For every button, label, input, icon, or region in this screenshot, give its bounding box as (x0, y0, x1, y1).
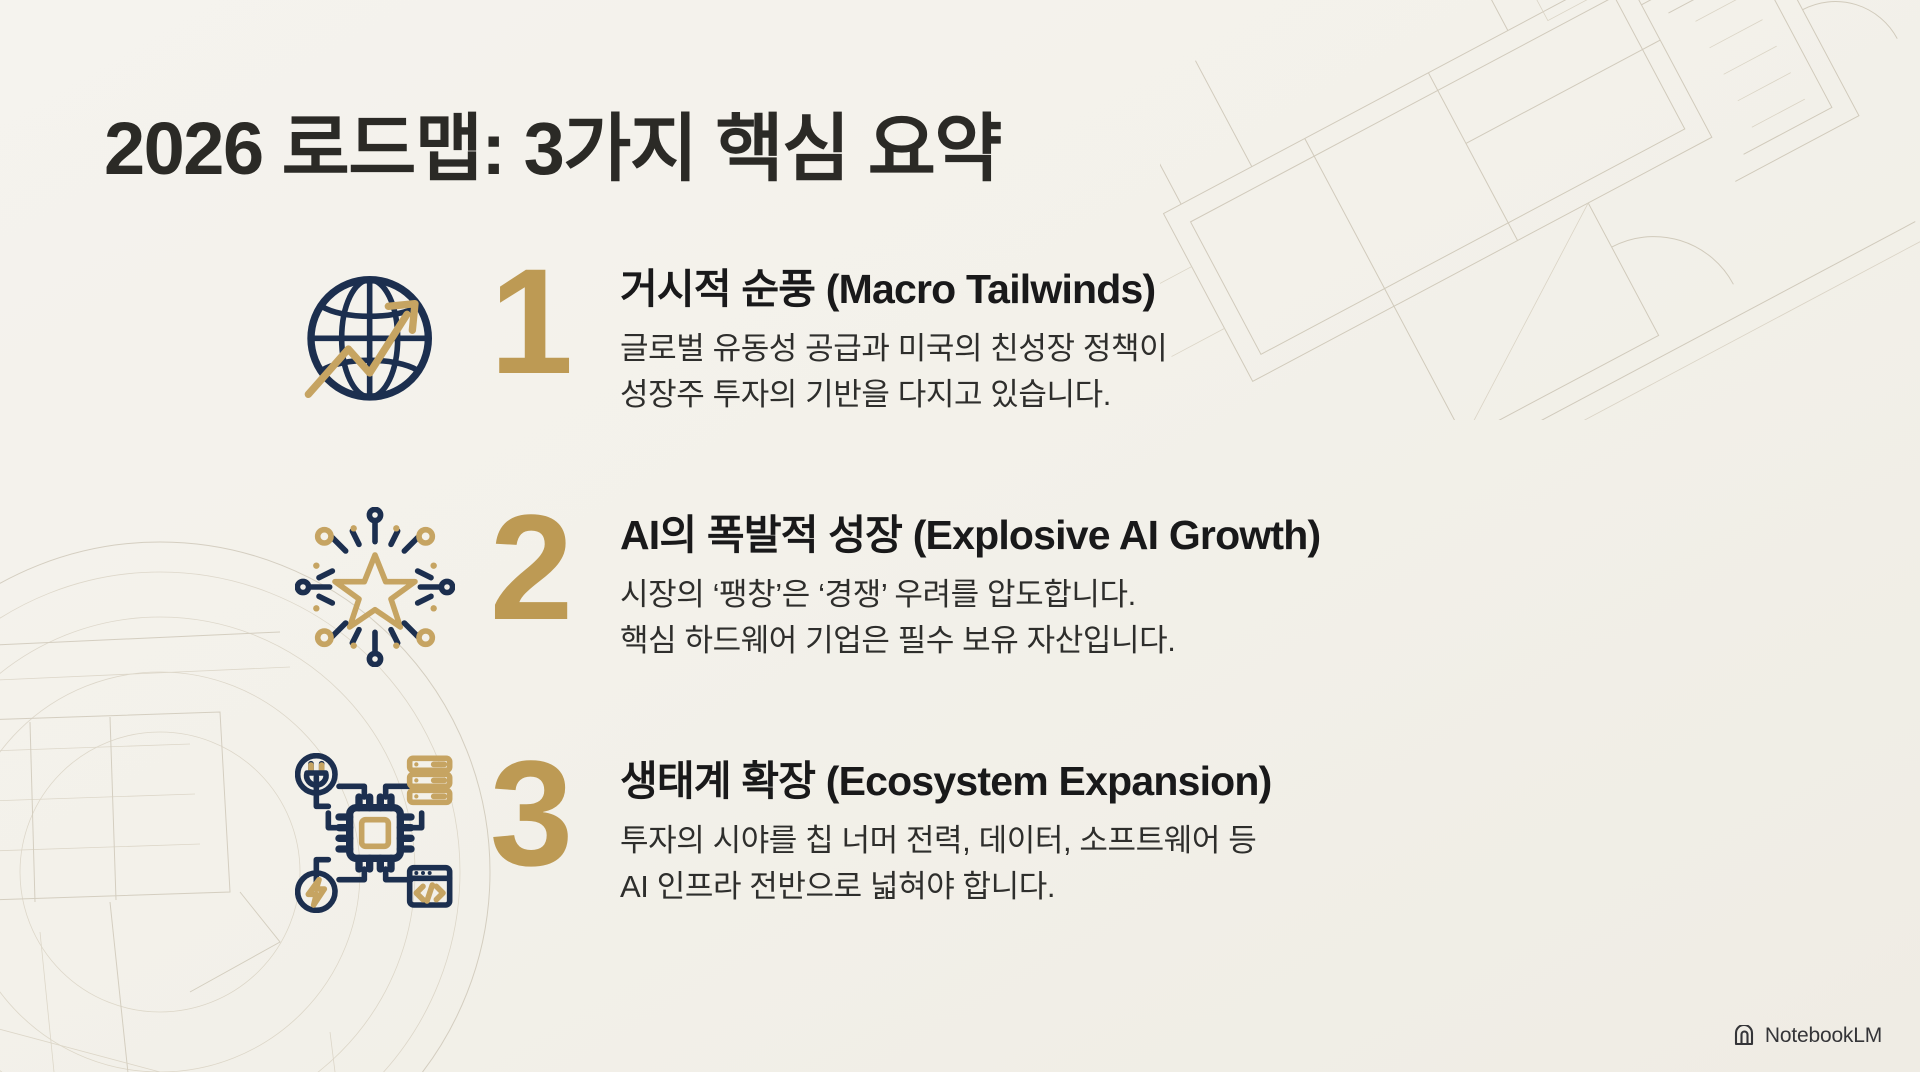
chip-ecosystem-icon (290, 748, 460, 918)
page-title: 2026 로드맵: 3가지 핵심 요약 (104, 106, 1001, 191)
watermark: NotebookLM (1732, 1024, 1882, 1048)
item-body-line: 글로벌 유동성 공급과 미국의 친성장 정책이 (620, 326, 1167, 372)
item-text-block: 거시적 순풍 (Macro Tailwinds) 글로벌 유동성 공급과 미국의… (620, 252, 1167, 418)
item-body: 글로벌 유동성 공급과 미국의 친성장 정책이 성장주 투자의 기반을 다지고 … (620, 326, 1167, 418)
item-heading: 거시적 순풍 (Macro Tailwinds) (620, 264, 1167, 314)
item-number: 2 (470, 498, 590, 636)
item-text-block: 생태계 확장 (Ecosystem Expansion) 투자의 시야를 칩 너… (620, 744, 1272, 910)
item-heading: 생태계 확장 (Ecosystem Expansion) (620, 756, 1272, 806)
slide-canvas: 2026 로드맵: 3가지 핵심 요약 1 거시적 순풍 (Macro Tail… (0, 0, 1920, 1072)
globe-growth-arrow-icon (290, 256, 460, 426)
list-item: 1 거시적 순풍 (Macro Tailwinds) 글로벌 유동성 공급과 미… (0, 252, 1920, 498)
item-number: 3 (470, 744, 590, 882)
item-heading: AI의 폭발적 성장 (Explosive AI Growth) (620, 510, 1320, 560)
item-body-line: 성장주 투자의 기반을 다지고 있습니다. (620, 372, 1167, 418)
item-number: 1 (470, 252, 590, 390)
item-body-line: 시장의 ‘팽창’은 ‘경쟁’ 우려를 압도합니다. (620, 572, 1320, 618)
item-body: 시장의 ‘팽창’은 ‘경쟁’ 우려를 압도합니다. 핵심 하드웨어 기업은 필수… (620, 572, 1320, 664)
list-item: 3 생태계 확장 (Ecosystem Expansion) 투자의 시야를 칩… (0, 744, 1920, 990)
item-body: 투자의 시야를 칩 너머 전력, 데이터, 소프트웨어 등 AI 인프라 전반으… (620, 818, 1272, 910)
starburst-icon (290, 502, 460, 672)
key-points-list: 1 거시적 순풍 (Macro Tailwinds) 글로벌 유동성 공급과 미… (0, 252, 1920, 990)
notebooklm-logo-icon (1732, 1025, 1756, 1047)
item-body-line: 핵심 하드웨어 기업은 필수 보유 자산입니다. (620, 618, 1320, 664)
item-text-block: AI의 폭발적 성장 (Explosive AI Growth) 시장의 ‘팽창… (620, 498, 1320, 664)
item-body-line: 투자의 시야를 칩 너머 전력, 데이터, 소프트웨어 등 (620, 818, 1272, 864)
item-body-line: AI 인프라 전반으로 넓혀야 합니다. (620, 864, 1272, 910)
list-item: 2 AI의 폭발적 성장 (Explosive AI Growth) 시장의 ‘… (0, 498, 1920, 744)
watermark-label: NotebookLM (1765, 1024, 1882, 1048)
